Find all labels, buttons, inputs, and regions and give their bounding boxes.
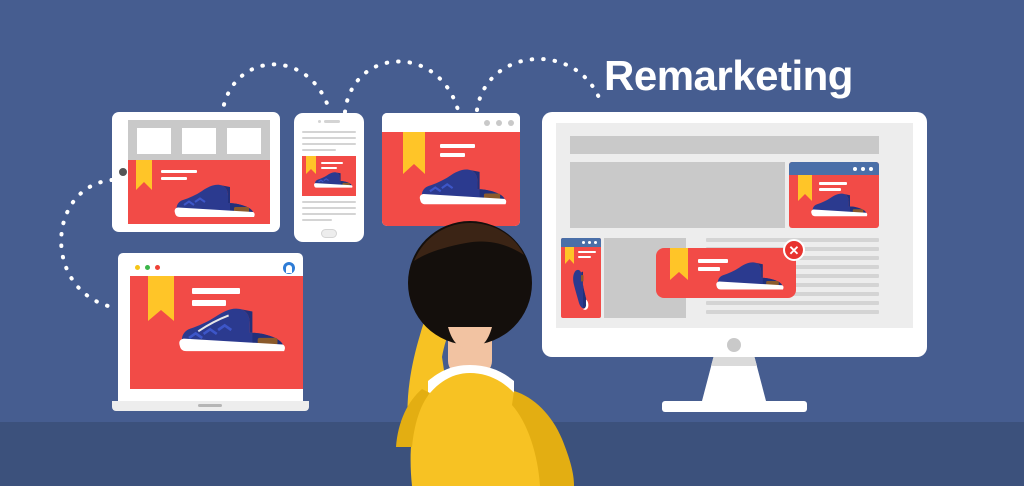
tablet-header-box — [182, 128, 216, 154]
window-dot-icon[interactable] — [869, 167, 873, 171]
sneaker-product-image — [160, 302, 292, 358]
sneaker-product-image — [307, 168, 355, 192]
laptop-browser-bar — [130, 259, 303, 276]
sneaker-product-image — [404, 164, 512, 210]
phone-screen — [299, 127, 359, 225]
window-dot-icon[interactable] — [508, 120, 514, 126]
laptop-trackpad-notch — [198, 404, 222, 407]
popup-ad-content[interactable] — [382, 132, 520, 226]
window-dot-icon[interactable] — [484, 120, 490, 126]
sneaker-product-image — [801, 190, 871, 220]
laptop-ad-content[interactable] — [130, 276, 303, 389]
bookmark-icon — [136, 160, 152, 190]
tablet-screen — [128, 120, 270, 224]
arc-popup-to-monitor — [477, 59, 600, 110]
window-dot-icon[interactable] — [145, 265, 150, 270]
ad-text-line — [819, 182, 847, 185]
popup-browser-window[interactable] — [382, 113, 520, 226]
content-line — [302, 143, 356, 145]
window-dot-icon[interactable] — [861, 167, 865, 171]
article-line — [706, 310, 879, 314]
content-line — [302, 201, 356, 203]
phone-speaker-icon — [324, 120, 340, 123]
ad-title-bar — [789, 162, 879, 175]
content-line — [302, 207, 356, 209]
sneaker-product-image — [160, 180, 260, 222]
monitor-ad-banner[interactable]: ✕ — [656, 248, 796, 298]
ad-text-line — [440, 153, 465, 157]
tablet-device[interactable] — [112, 112, 280, 232]
page-top-bar — [570, 136, 879, 154]
page-title: Remarketing — [604, 52, 853, 100]
phone-ad[interactable] — [302, 156, 356, 196]
window-dot-icon[interactable] — [853, 167, 857, 171]
phone-camera-icon — [318, 120, 321, 123]
laptop-device[interactable] — [112, 253, 309, 418]
arc-phone-to-popup — [345, 61, 458, 112]
tablet-ad[interactable] — [128, 160, 270, 224]
monitor-stand-foot — [662, 401, 807, 412]
window-dot-icon[interactable] — [155, 265, 160, 270]
window-dot-icon[interactable] — [496, 120, 502, 126]
arc-tablet-to-laptop — [61, 180, 112, 306]
content-line — [302, 149, 336, 151]
ad-text-line — [161, 170, 197, 173]
monitor-ad-top-right[interactable] — [789, 162, 879, 228]
illustration-scene: Remarketing — [0, 0, 1024, 486]
tablet-header-box — [227, 128, 261, 154]
arc-tablet-to-phone — [222, 64, 330, 116]
close-icon[interactable]: ✕ — [783, 239, 805, 261]
user-avatar-icon[interactable] — [283, 262, 295, 274]
monitor-stand-shadow — [702, 357, 766, 366]
content-line — [302, 131, 356, 133]
article-line — [706, 301, 879, 305]
sneaker-product-image — [704, 258, 788, 294]
person-pointing — [300, 215, 620, 486]
ad-text-line — [440, 144, 475, 148]
content-line — [302, 137, 356, 139]
monitor-power-button[interactable] — [727, 338, 741, 352]
popup-title-bar — [382, 113, 520, 132]
tablet-header-box — [137, 128, 171, 154]
ad-text-line — [321, 162, 343, 164]
ad-text-line — [192, 288, 240, 294]
window-dot-icon[interactable] — [135, 265, 140, 270]
bookmark-icon — [670, 248, 688, 280]
laptop-lid — [118, 253, 303, 401]
